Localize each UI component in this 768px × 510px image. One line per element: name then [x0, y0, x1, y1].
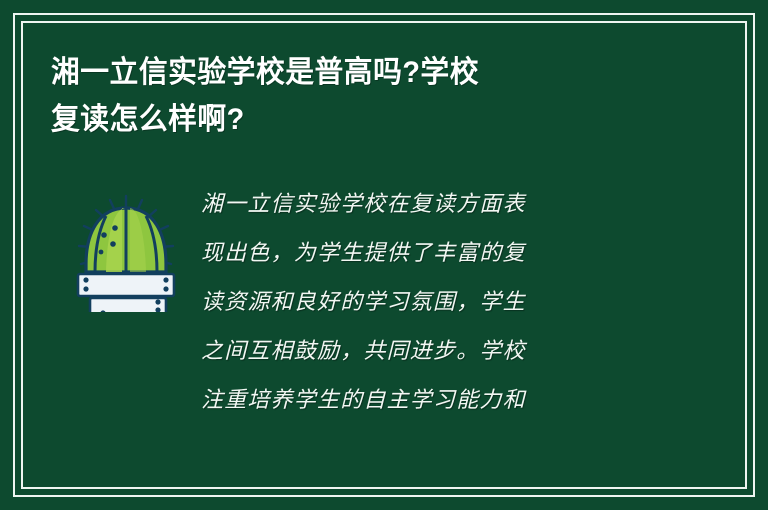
planter-bar-lower	[90, 298, 166, 312]
article-block: 湘一立信实验学校在复读方面表 现出色，为学生提供了丰富的复 读资源和良好的学习氛…	[51, 180, 717, 425]
article-text: 湘一立信实验学校在复读方面表 现出色，为学生提供了丰富的复 读资源和良好的学习氛…	[201, 180, 717, 425]
planter-bar-upper	[78, 274, 174, 296]
page-title-line-1: 湘一立信实验学校是普高吗?学校	[51, 49, 502, 96]
card-content: 湘一立信实验学校是普高吗?学校 复读怎么样啊?	[21, 21, 747, 489]
article-line: 读资源和良好的学习氛围，学生	[201, 278, 703, 327]
page-title-line-2: 复读怎么样啊?	[51, 96, 502, 143]
article-line: 湘一立信实验学校在复读方面表	[201, 180, 703, 229]
illustration-container	[51, 180, 201, 312]
article-line: 注重培养学生的自主学习能力和	[201, 376, 703, 425]
article-line: 现出色，为学生提供了丰富的复	[201, 229, 703, 278]
cactus-icon	[70, 192, 182, 312]
article-line: 之间互相鼓励，共同进步。学校	[201, 327, 703, 376]
page-title: 湘一立信实验学校是普高吗?学校 复读怎么样啊?	[51, 49, 502, 144]
